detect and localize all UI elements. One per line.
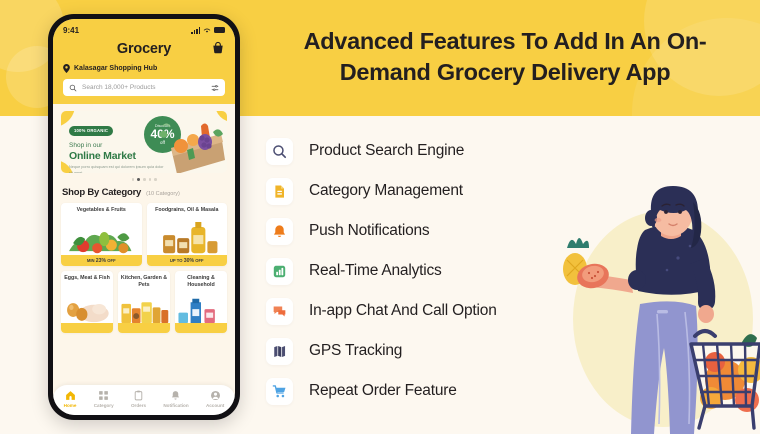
category-count: (10 Category)	[146, 191, 180, 197]
category-card[interactable]: Kitchen, Garden & Pets	[118, 271, 170, 332]
category-card[interactable]: Cleaning & Household	[175, 271, 227, 332]
category-card-offer	[61, 323, 113, 333]
category-card-offer: MIN 23% OFF	[61, 255, 142, 266]
bell-icon	[170, 390, 181, 401]
category-card[interactable]: Foodgrains, Oil & Masala	[147, 203, 228, 266]
search-bar[interactable]: Search 18,000+ Products	[63, 79, 225, 96]
nav-item-account[interactable]: Account	[206, 390, 224, 408]
category-section-header: Shop By Category (10 Category)	[53, 181, 235, 198]
nav-item-notification[interactable]: Notification	[163, 390, 188, 408]
category-card-name: Vegetables & Fruits	[61, 203, 142, 216]
location-pin-icon	[63, 64, 70, 73]
battery-icon	[214, 27, 225, 33]
woman-with-shopping-cart-illustration	[545, 184, 760, 434]
category-card-name: Cleaning & Household	[175, 271, 227, 291]
feature-item-push-notifications[interactable]: Push Notifications	[266, 211, 566, 251]
promo-banner[interactable]: 100% ORGANIC Shop in our Online Market N…	[61, 111, 227, 173]
wifi-icon	[203, 27, 211, 34]
nav-item-category[interactable]: Category	[94, 390, 114, 408]
search-input[interactable]: Search 18,000+ Products	[82, 84, 206, 91]
document-icon	[266, 178, 293, 205]
status-bar: 9:41	[63, 24, 225, 36]
phone-mockup: 9:41 Grocery	[48, 14, 240, 420]
category-row: Eggs, Meat & Fish	[61, 271, 227, 332]
phone-screen: 9:41 Grocery	[53, 19, 235, 415]
feature-label: In-app Chat And Call Option	[309, 302, 497, 320]
category-card-name: Kitchen, Garden & Pets	[118, 271, 170, 291]
feature-item-category-management[interactable]: Category Management	[266, 171, 566, 211]
feature-label: GPS Tracking	[309, 342, 402, 360]
feature-label: Category Management	[309, 182, 463, 200]
category-card-offer: UP TO 30% OFF	[147, 255, 228, 266]
location-row[interactable]: Kalasagar Shopping Hub	[63, 64, 225, 73]
category-card-name: Eggs, Meat & Fish	[61, 271, 113, 284]
feature-item-in-app-chat-and-call-option[interactable]: In-app Chat And Call Option	[266, 291, 566, 331]
folded-map-icon	[266, 338, 293, 365]
shopping-cart-icon	[266, 378, 293, 405]
category-card-name: Foodgrains, Oil & Masala	[147, 203, 228, 216]
location-label: Kalasagar Shopping Hub	[74, 65, 157, 72]
app-title-row: Grocery	[63, 40, 225, 58]
category-card-offer	[118, 323, 170, 333]
feature-label: Real-Time Analytics	[309, 262, 442, 280]
feature-item-gps-tracking[interactable]: GPS Tracking	[266, 331, 566, 371]
category-grid: Vegetables & Fruits	[53, 198, 235, 333]
shopping-cart-graphic	[691, 331, 760, 428]
feature-list: Product Search Engine Category Managemen…	[266, 131, 566, 411]
feature-item-real-time-analytics[interactable]: Real-Time Analytics	[266, 251, 566, 291]
signal-bars-icon	[191, 27, 200, 34]
bar-chart-icon	[266, 258, 293, 285]
search-icon	[69, 84, 77, 92]
bell-icon	[266, 218, 293, 245]
nav-item-orders[interactable]: Orders	[131, 390, 146, 408]
nav-label: Home	[64, 403, 77, 408]
nav-label: Category	[94, 403, 114, 408]
promo-banner-carousel[interactable]: 100% ORGANIC Shop in our Online Market N…	[53, 104, 235, 181]
home-icon	[65, 390, 76, 401]
app-title: Grocery	[117, 41, 171, 57]
category-card[interactable]: Vegetables & Fruits	[61, 203, 142, 266]
category-card-image	[61, 216, 142, 255]
category-card-image	[175, 292, 227, 323]
chat-bubbles-icon	[266, 298, 293, 325]
search-icon	[266, 138, 293, 165]
nav-label: Notification	[163, 403, 188, 408]
nav-label: Account	[206, 403, 224, 408]
bottom-navigation: Home Category Orders	[53, 385, 235, 415]
grocery-basket-illustration	[151, 120, 225, 173]
nav-item-home[interactable]: Home	[64, 390, 77, 408]
feature-item-repeat-order-feature[interactable]: Repeat Order Feature	[266, 371, 566, 411]
app-header: 9:41 Grocery	[53, 19, 235, 104]
category-card[interactable]: Eggs, Meat & Fish	[61, 271, 113, 332]
feature-item-product-search-engine[interactable]: Product Search Engine	[266, 131, 566, 171]
feature-label: Product Search Engine	[309, 142, 464, 160]
category-row: Vegetables & Fruits	[61, 203, 227, 266]
category-card-image	[118, 292, 170, 323]
category-section-title: Shop By Category	[62, 187, 141, 198]
clipboard-orders-icon	[133, 390, 144, 401]
poster-canvas: Advanced Features To Add In An On-Demand…	[0, 0, 760, 434]
page-title: Advanced Features To Add In An On-Demand…	[262, 26, 748, 88]
organic-badge: 100% ORGANIC	[69, 126, 113, 136]
feature-label: Push Notifications	[309, 222, 429, 240]
nav-label: Orders	[131, 403, 146, 408]
filter-sliders-icon[interactable]	[211, 84, 219, 92]
category-card-image	[147, 216, 228, 255]
status-icons	[191, 27, 225, 34]
feature-label: Repeat Order Feature	[309, 382, 457, 400]
grid-category-icon	[98, 390, 109, 401]
category-card-offer	[175, 323, 227, 333]
status-time: 9:41	[63, 26, 79, 35]
category-card-image	[61, 284, 113, 322]
user-account-icon	[210, 390, 221, 401]
shopping-basket-icon[interactable]	[211, 41, 225, 55]
